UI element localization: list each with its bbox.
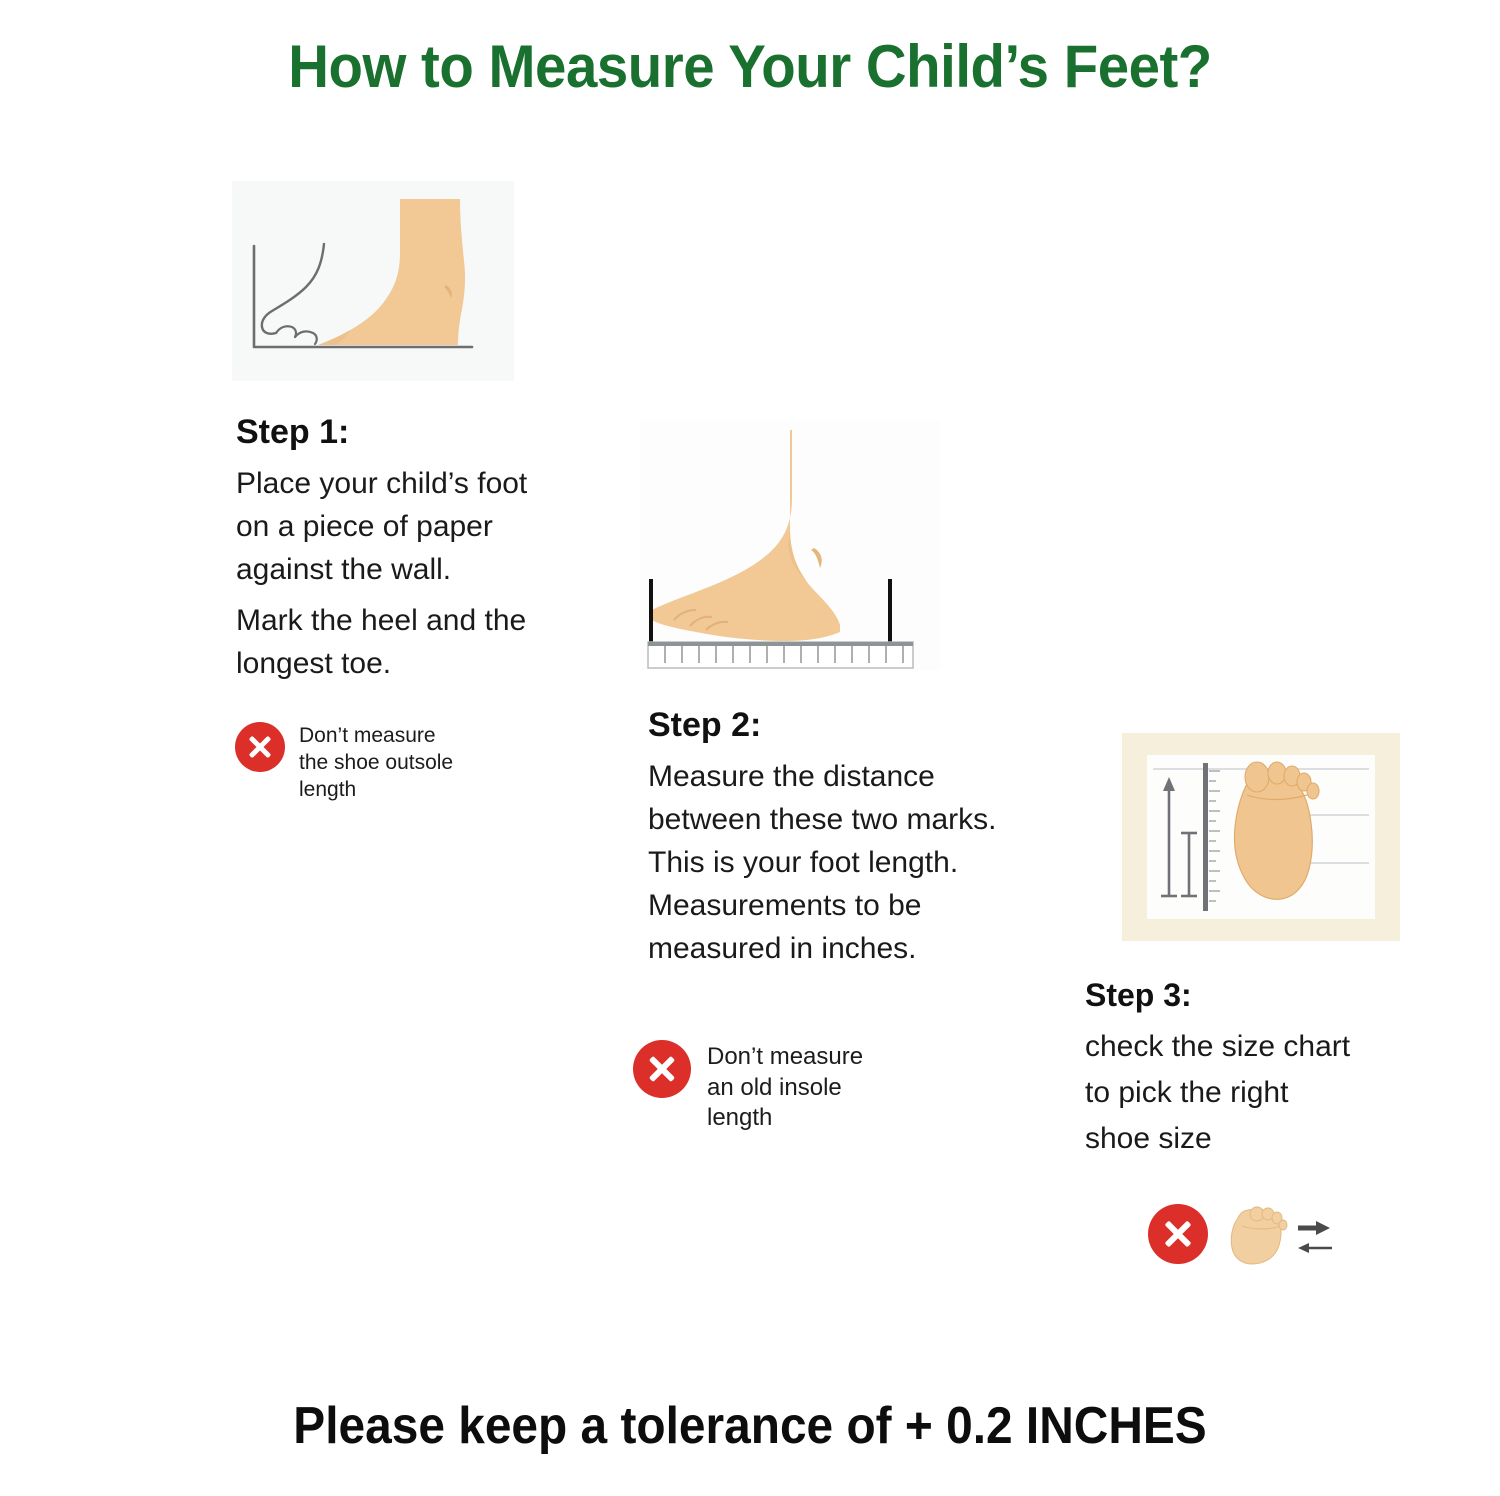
step-3-line-3: shoe size xyxy=(1085,1117,1425,1161)
step-1-warning: Don’t measure the shoe outsole length xyxy=(235,722,453,804)
step-2-warning-line-3: length xyxy=(707,1103,863,1134)
foot-side-view-against-wall-icon xyxy=(232,181,514,381)
foot-sole-top-view-with-vertical-ruler-icon xyxy=(1147,755,1375,919)
step-2-warning: Don’t measure an old insole length xyxy=(633,1040,863,1134)
step-2-heading: Step 2: xyxy=(648,706,761,745)
step-1-line-4: Mark the heel and the xyxy=(236,600,566,641)
infographic-page: How to Measure Your Child’s Feet? Step 1… xyxy=(0,0,1500,1496)
page-title: How to Measure Your Child’s Feet? xyxy=(45,32,1455,101)
step-2-line-3: This is your foot length. xyxy=(648,842,1078,883)
step-3-line-2: to pick the right xyxy=(1085,1071,1425,1115)
step-3-warning xyxy=(1148,1204,1334,1273)
step-2-line-1: Measure the distance xyxy=(648,756,1078,797)
step-3-heading: Step 3: xyxy=(1085,977,1192,1014)
foot-sole-with-arrows-icon xyxy=(1224,1206,1334,1268)
step-1-body: Place your child’s foot on a piece of pa… xyxy=(236,463,566,686)
step-1-warning-line-1: Don’t measure xyxy=(299,723,453,750)
red-x-circle-icon xyxy=(235,722,285,772)
step-3-body: check the size chart to pick the right s… xyxy=(1085,1025,1425,1163)
tolerance-note: Please keep a tolerance of + 0.2 INCHES xyxy=(60,1396,1440,1456)
step-2-line-5: measured in inches. xyxy=(648,928,1078,969)
red-x-circle-icon xyxy=(633,1040,691,1098)
step-3-panel xyxy=(1147,755,1375,919)
foot-side-view-with-ruler-icon xyxy=(640,420,940,670)
step-1-warning-line-3: length xyxy=(299,777,453,804)
step-1-line-3: against the wall. xyxy=(236,549,566,590)
step-1-line-1: Place your child’s foot xyxy=(236,463,566,504)
red-x-circle-icon xyxy=(1148,1204,1208,1264)
step-3-warning-graphic xyxy=(1224,1204,1334,1273)
step-2-illustration xyxy=(640,420,940,670)
step-1-heading: Step 1: xyxy=(236,413,349,452)
step-2-warning-line-2: an old insole xyxy=(707,1073,863,1104)
step-1-warning-line-2: the shoe outsole xyxy=(299,750,453,777)
step-3-illustration xyxy=(1122,733,1400,941)
step-2-line-2: between these two marks. xyxy=(648,799,1078,840)
step-2-body: Measure the distance between these two m… xyxy=(648,756,1078,971)
step-1-line-2: on a piece of paper xyxy=(236,506,566,547)
step-3-line-1: check the size chart xyxy=(1085,1025,1425,1069)
step-2-warning-line-1: Don’t measure xyxy=(707,1042,863,1073)
step-1-line-5: longest toe. xyxy=(236,643,566,684)
step-1-illustration xyxy=(232,181,514,381)
step-2-line-4: Measurements to be xyxy=(648,885,1078,926)
